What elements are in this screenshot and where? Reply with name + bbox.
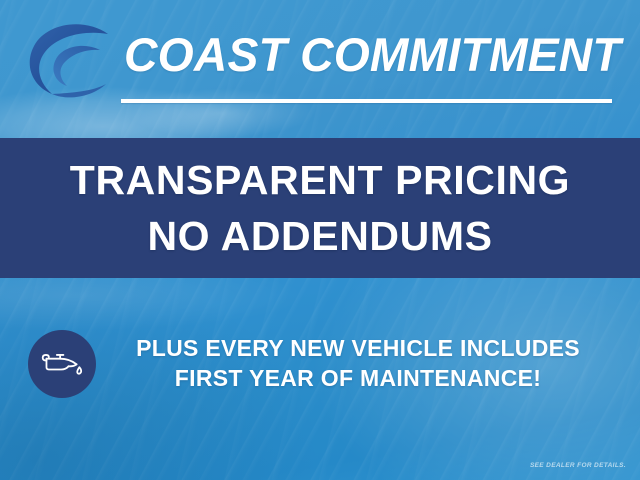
coast-commitment-banner: COAST COMMITMENT TRANSPARENT PRICING NO … <box>0 0 640 480</box>
header-divider <box>121 99 612 103</box>
banner-header: COAST COMMITMENT <box>0 0 640 138</box>
coast-wave-swirl-logo-icon <box>22 20 126 106</box>
promo-row: PLUS EVERY NEW VEHICLE INCLUDES FIRST YE… <box>0 322 640 406</box>
highlight-line-transparent-pricing: TRANSPARENT PRICING <box>70 155 570 205</box>
promo-line-includes: PLUS EVERY NEW VEHICLE INCLUDES <box>102 334 614 364</box>
disclaimer-text: SEE DEALER FOR DETAILS. <box>530 462 626 469</box>
highlight-panel: TRANSPARENT PRICING NO ADDENDUMS <box>0 138 640 278</box>
page-title: COAST COMMITMENT <box>124 24 609 86</box>
oil-can-icon <box>40 346 84 383</box>
highlight-line-no-addendums: NO ADDENDUMS <box>147 211 492 261</box>
promo-line-maintenance: FIRST YEAR OF MAINTENANCE! <box>102 364 614 394</box>
promo-badge <box>28 330 96 398</box>
promo-text: PLUS EVERY NEW VEHICLE INCLUDES FIRST YE… <box>96 334 640 394</box>
